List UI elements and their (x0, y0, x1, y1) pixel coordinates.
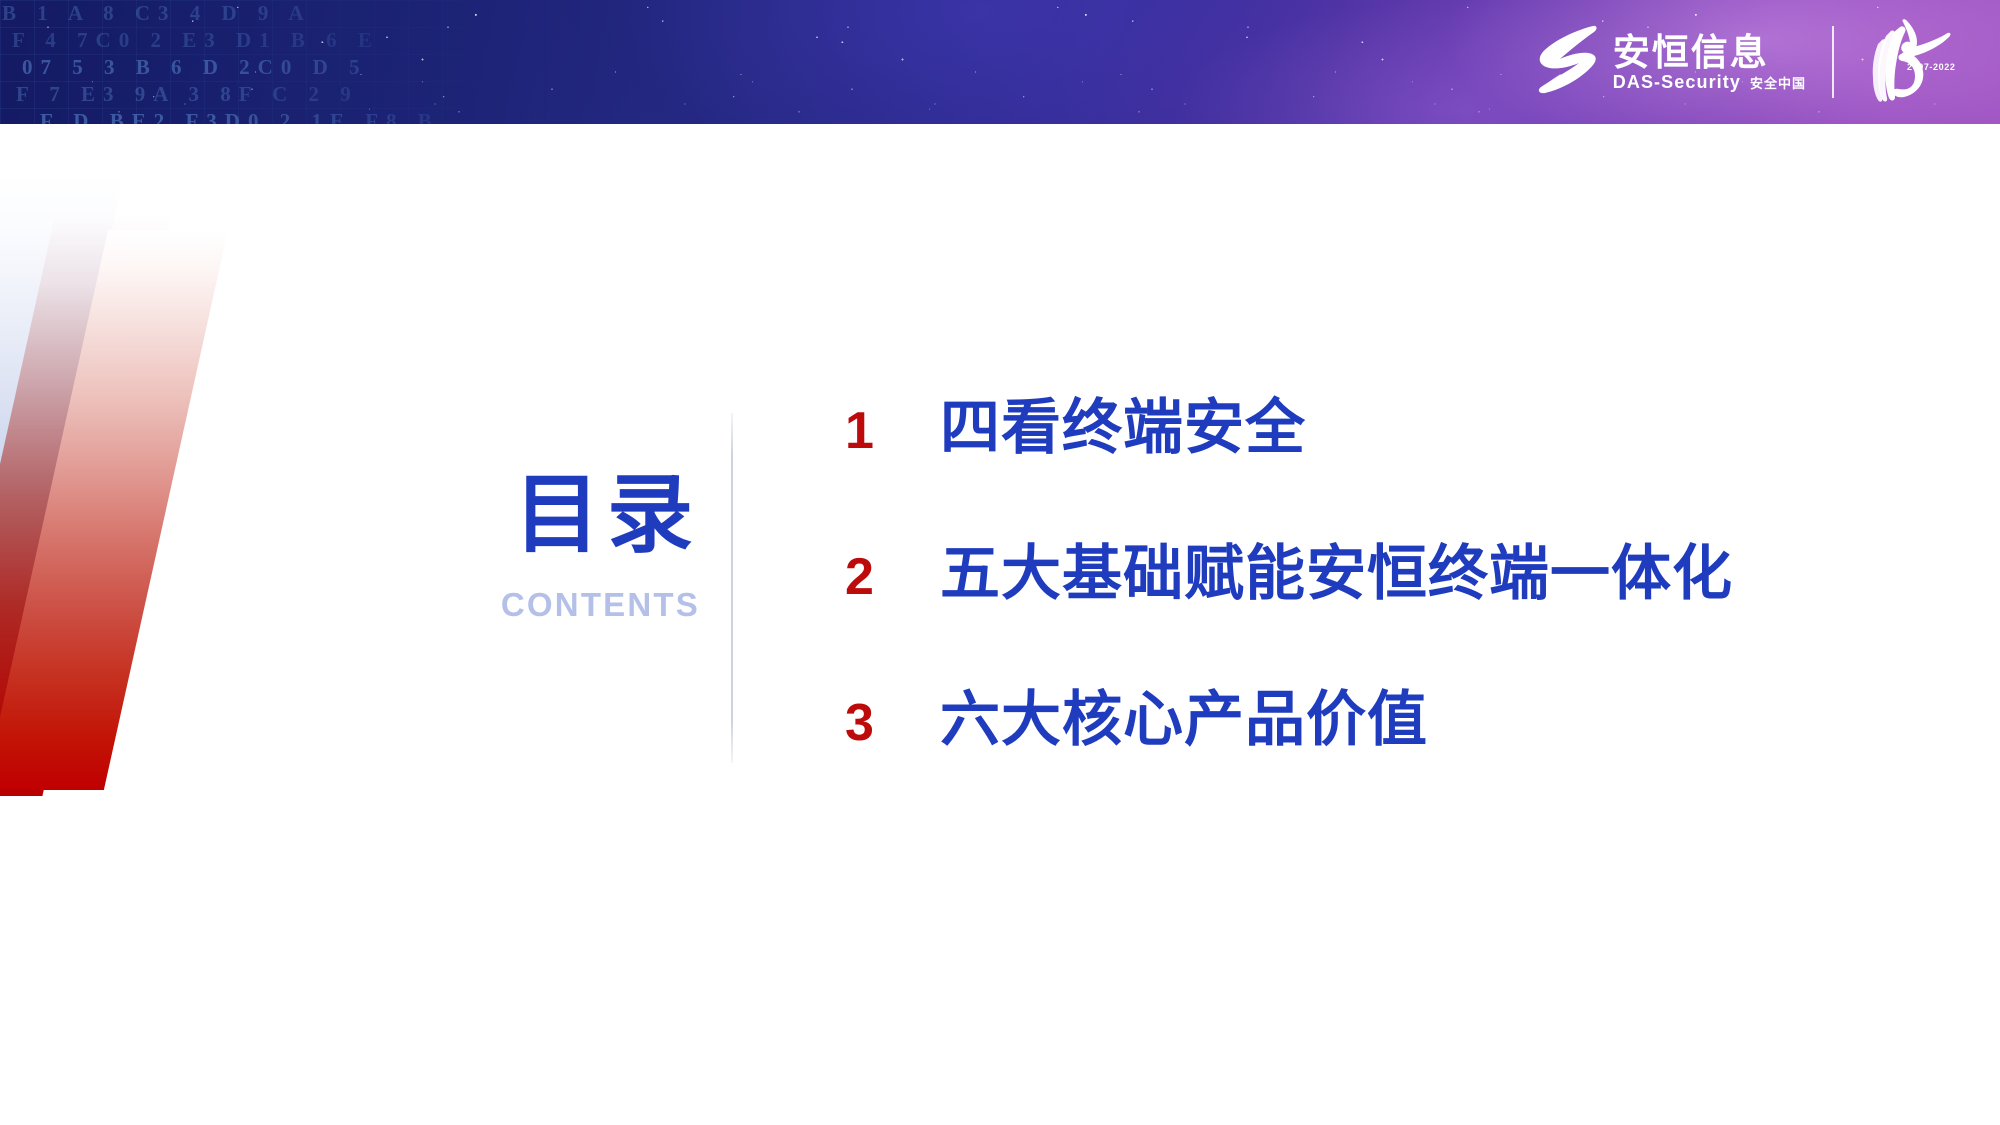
anniversary-years: 2007-2022 (1907, 63, 1955, 72)
header-banner: B 1 A 8 C3 4 D 9 A F 4 7C0 2 E3 D1 B 6 E… (0, 0, 2000, 124)
vertical-divider (731, 413, 733, 763)
contents-item-2[interactable]: 2 五大基础赋能安恒终端一体化 (845, 544, 1925, 630)
brand-text: 安恒信息 DAS-Security 安全中国 (1613, 34, 1806, 91)
contents-item-1[interactable]: 1 四看终端安全 (845, 398, 1925, 484)
contents-list: 1 四看终端安全 2 五大基础赋能安恒终端一体化 3 六大核心产品价值 (845, 398, 1925, 776)
decorative-ribbons (0, 124, 420, 1125)
page-title: 目录 (300, 470, 700, 560)
header-grid-texture (0, 0, 560, 124)
contents-item-number: 2 (845, 551, 940, 603)
contents-item-label: 五大基础赋能安恒终端一体化 (940, 544, 1733, 604)
logo-divider (1832, 26, 1834, 98)
logo-lockup: 安恒信息 DAS-Security 安全中国 2007-2022 (1537, 18, 1982, 106)
red-gradient-ribbon-inner (0, 216, 171, 796)
brand-block: 安恒信息 DAS-Security 安全中国 (1537, 23, 1832, 102)
contents-item-number: 1 (845, 405, 940, 457)
hexcode-row: F 7 E3 9A 3 8F C 2 9 (0, 81, 640, 108)
brand-name-en: DAS-Security (1613, 73, 1741, 91)
hexcode-row: B 1 A 8 C3 4 D 9 A (0, 0, 640, 27)
page-subtitle: CONTENTS (300, 588, 700, 621)
das-security-swoosh-icon (1537, 23, 1599, 102)
blue-gradient-ribbon (0, 174, 124, 1125)
brand-subline: DAS-Security 安全中国 (1613, 73, 1806, 91)
title-block: 目录 CONTENTS (300, 470, 700, 621)
contents-item-number: 3 (845, 697, 940, 749)
contents-item-label: 四看终端安全 (940, 398, 1306, 458)
header-hexcode-texture: B 1 A 8 C3 4 D 9 A F 4 7C0 2 E3 D1 B 6 E… (0, 0, 640, 124)
brand-slogan: 安全中国 (1750, 77, 1806, 90)
agenda-slide: B 1 A 8 C3 4 D 9 A F 4 7C0 2 E3 D1 B 6 E… (0, 0, 2000, 1125)
contents-item-label: 六大核心产品价值 (940, 690, 1428, 750)
contents-item-3[interactable]: 3 六大核心产品价值 (845, 690, 1925, 776)
brand-name-cn: 安恒信息 (1613, 34, 1806, 71)
hexcode-row: F D BE2 F3D0 2 1E F8 B (0, 108, 640, 124)
anniversary-mark: 2007-2022 (1860, 18, 1982, 106)
red-gradient-ribbon (0, 230, 228, 790)
hexcode-row: 07 5 3 B 6 D 2C0 D 5 (0, 54, 640, 81)
hexcode-row: F 4 7C0 2 E3 D1 B 6 E (0, 27, 640, 54)
